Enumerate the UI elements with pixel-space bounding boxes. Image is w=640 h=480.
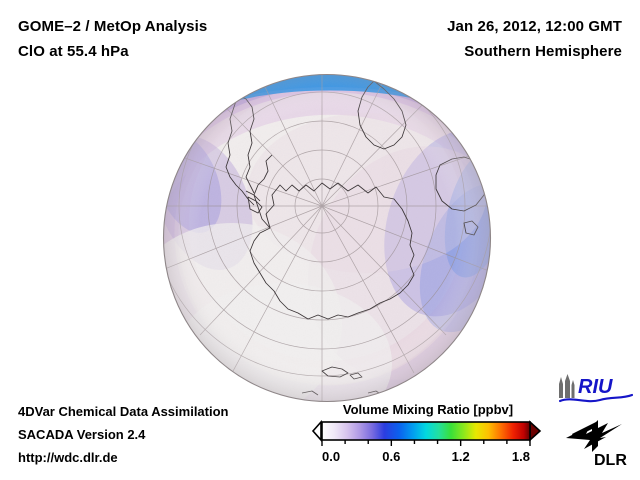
colorbar-extend-min-arrow bbox=[313, 422, 321, 440]
timestamp-label: Jan 26, 2012, 12:00 GMT bbox=[447, 14, 622, 39]
dlr-logo: DLR bbox=[562, 412, 636, 472]
coastline-new-zealand bbox=[480, 131, 492, 147]
riu-wordmark: RIU bbox=[578, 376, 613, 398]
version-label: SACADA Version 2.4 bbox=[18, 423, 229, 446]
assimilation-method-label: 4DVar Chemical Data Assimilation bbox=[18, 400, 229, 423]
riu-logo: RIU bbox=[556, 372, 636, 406]
instrument-title: GOME–2 / MetOp Analysis bbox=[18, 14, 207, 39]
globe-map bbox=[162, 73, 492, 403]
hemisphere-label: Southern Hemisphere bbox=[447, 39, 622, 64]
header-right: Jan 26, 2012, 12:00 GMT Southern Hemisph… bbox=[447, 14, 622, 64]
riu-logo-svg: RIU bbox=[556, 372, 636, 406]
dlr-wordmark: DLR bbox=[594, 452, 627, 469]
visualization-page: GOME–2 / MetOp Analysis ClO at 55.4 hPa … bbox=[0, 0, 640, 480]
colorbar-extend-max-arrow bbox=[530, 422, 540, 440]
colorbar-tick-labels: 0.00.61.21.8 bbox=[322, 449, 530, 464]
dlr-logo-svg: DLR bbox=[562, 412, 636, 472]
species-level-title: ClO at 55.4 hPa bbox=[18, 39, 207, 64]
colorbar-tick-label: 0.6 bbox=[382, 449, 400, 464]
dlr-emblem-icon bbox=[566, 420, 622, 452]
website-url[interactable]: http://wdc.dlr.de bbox=[18, 446, 229, 469]
colorbar-title: Volume Mixing Ratio [ppbv] bbox=[306, 402, 550, 417]
colorbar-tick-label: 1.8 bbox=[512, 449, 530, 464]
colorbar: Volume Mixing Ratio [ppbv] bbox=[306, 402, 550, 464]
orthographic-projection-svg bbox=[162, 73, 492, 403]
riu-towers-icon bbox=[559, 374, 575, 398]
colorbar-svg: 0.00.61.21.8 bbox=[306, 420, 550, 466]
colorbar-ticks bbox=[322, 440, 530, 446]
sphere-shading bbox=[164, 75, 491, 402]
colorbar-tick-label: 1.2 bbox=[452, 449, 470, 464]
footer-left: 4DVar Chemical Data Assimilation SACADA … bbox=[18, 400, 229, 469]
header-left: GOME–2 / MetOp Analysis ClO at 55.4 hPa bbox=[18, 14, 207, 64]
colorbar-tick-label: 0.0 bbox=[322, 449, 340, 464]
